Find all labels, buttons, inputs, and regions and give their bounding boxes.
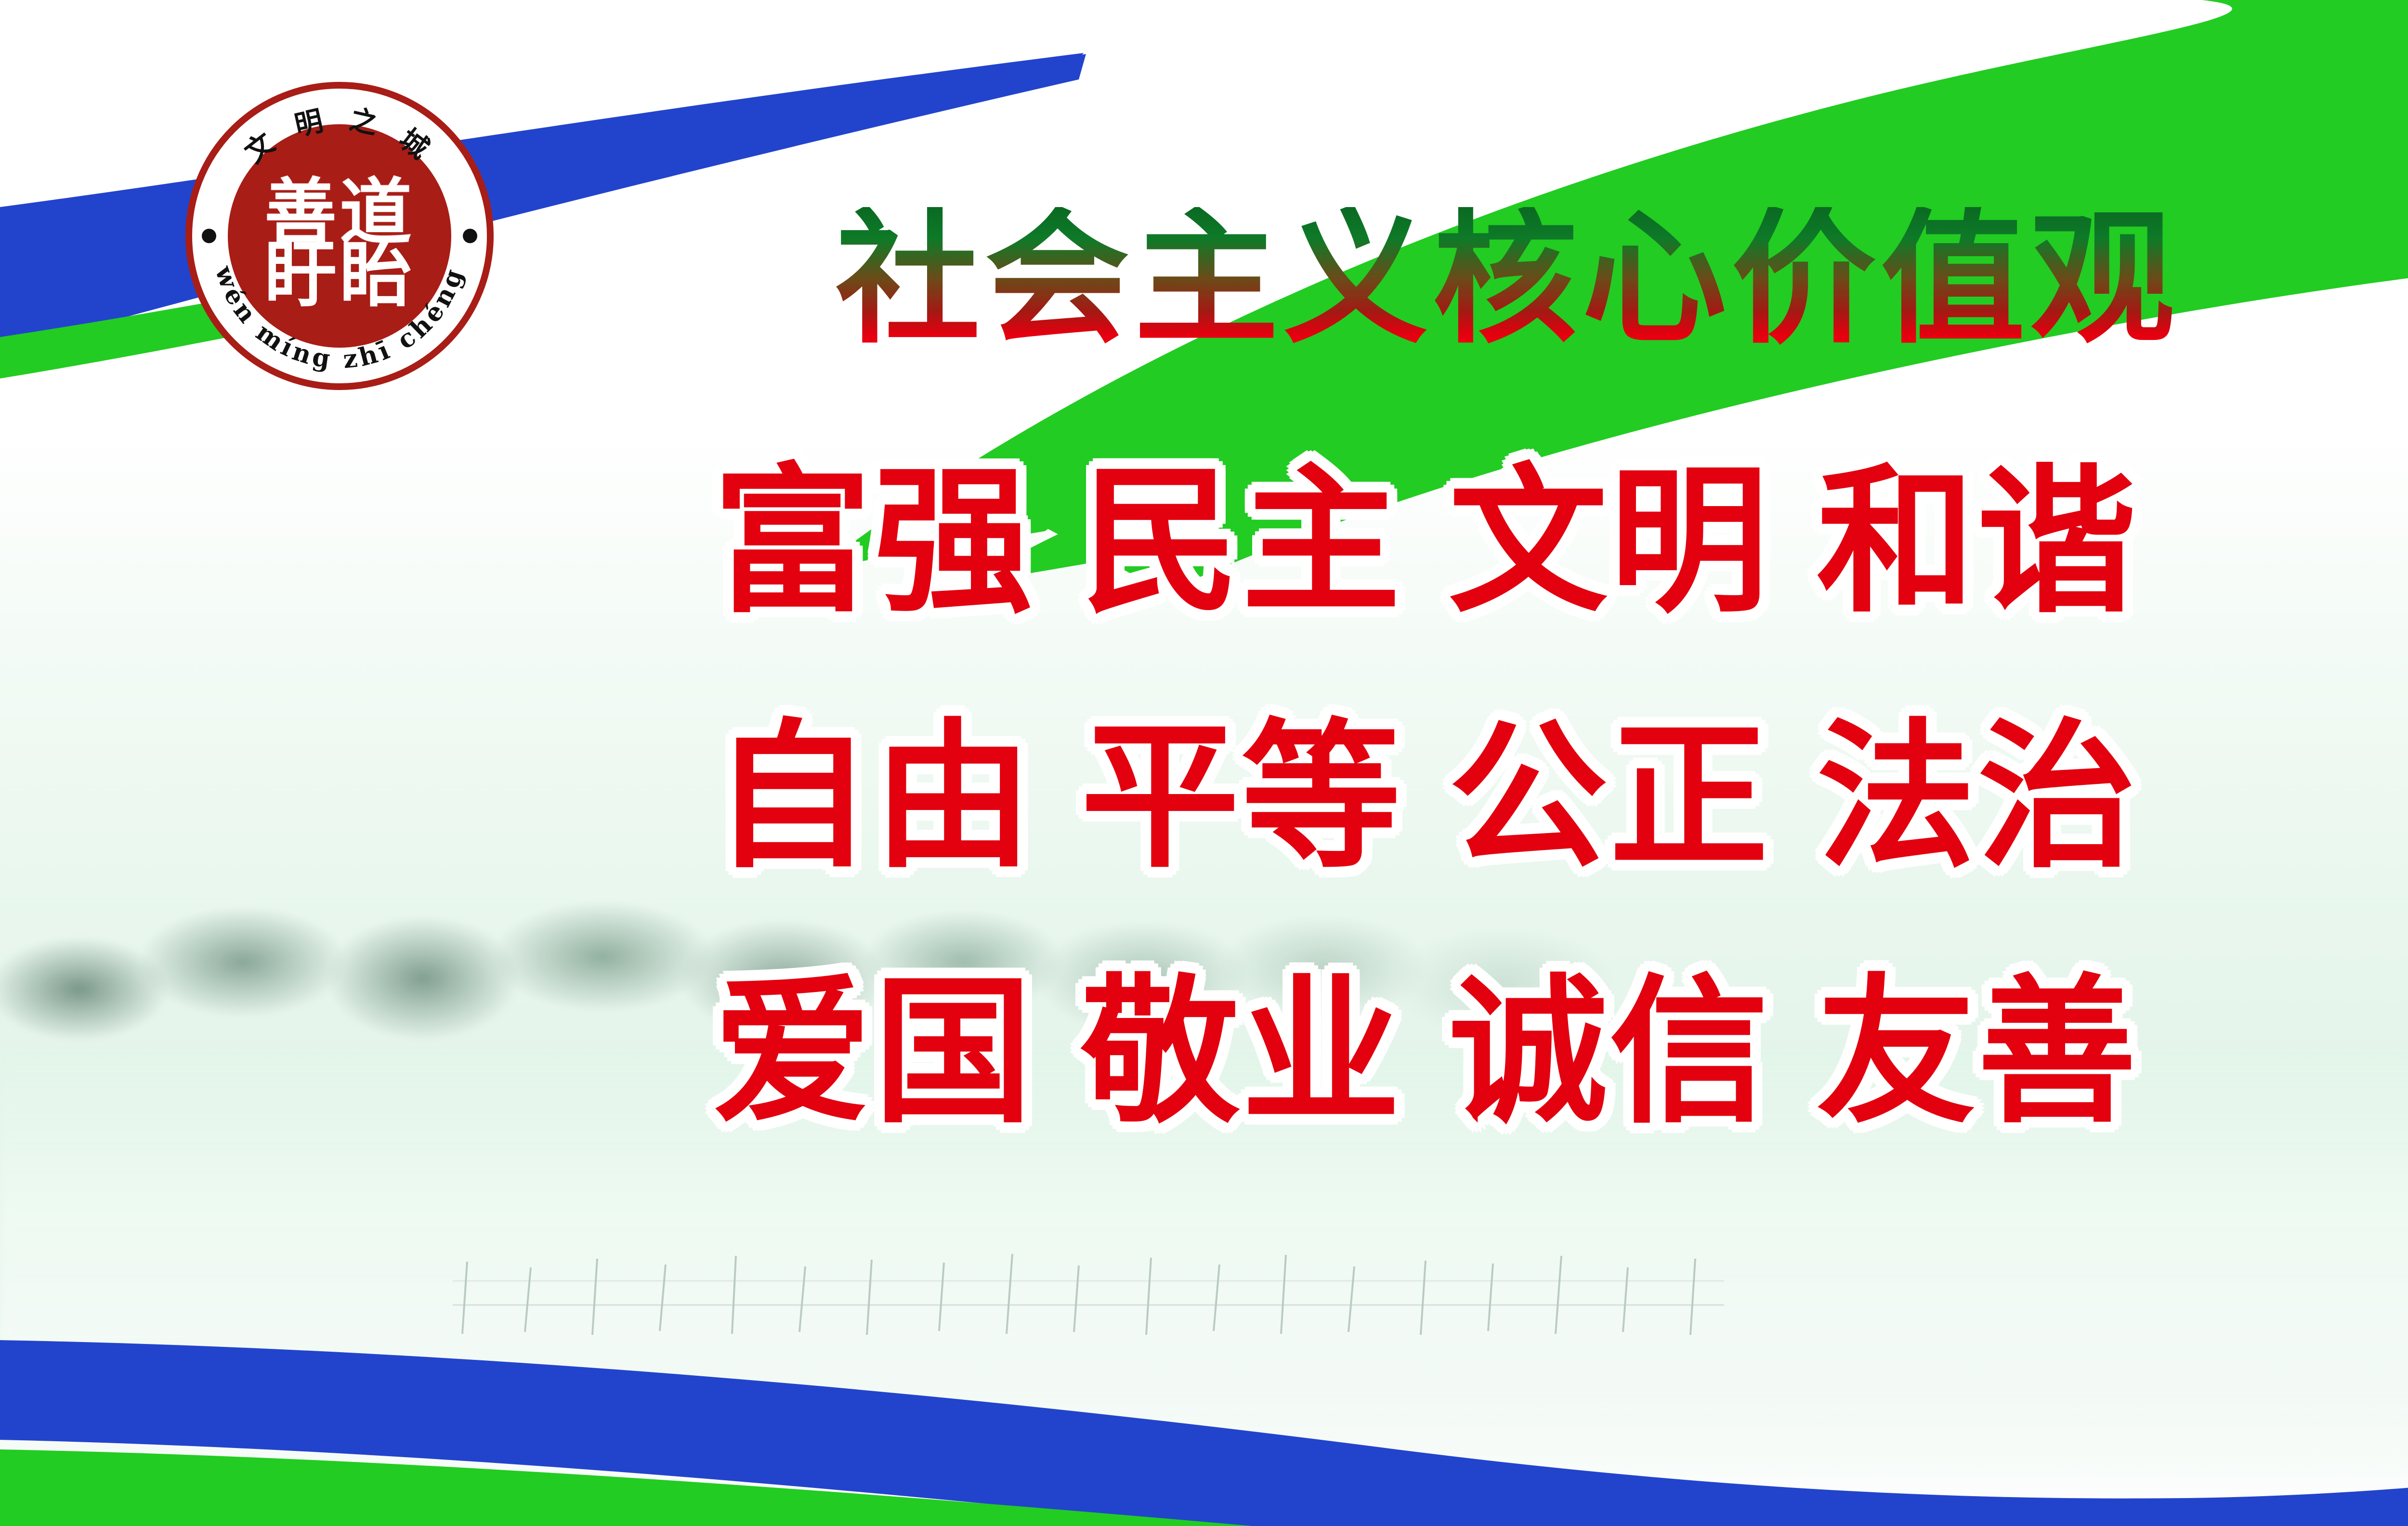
slogan-line-1: 富强民主文明和谐 [713, 462, 2408, 621]
slogan-word: 爱国 [713, 960, 1034, 1145]
slogan-word: 公正 [1449, 704, 1770, 889]
seal-arc-bottom-text: wén míng zhī chéng [209, 262, 470, 375]
slogan-word: 民主 [1081, 449, 1402, 634]
slogan-word: 友善 [1817, 960, 2138, 1145]
slogan-word: 诚信 [1449, 960, 1770, 1145]
page-title: 社会主义核心价值观 [836, 207, 2179, 352]
slogan-word: 文明 [1449, 449, 1770, 634]
slogan-word: 富强 [713, 449, 1034, 634]
slogan-word: 和谐 [1817, 449, 2138, 634]
slogan-word: 法治 [1817, 704, 2138, 889]
poster-board: 文 明 之 城 善道 盱眙 wén míng zhī chéng 社会主义核心价… [0, 0, 2408, 1526]
slogan-word: 平等 [1081, 704, 1402, 889]
slogan-word: 敬业 [1081, 960, 1402, 1145]
slogan-line-3: 爱国敬业诚信友善 [713, 973, 2408, 1132]
slogan-line-2: 自由平等公正法治 [713, 717, 2408, 876]
svg-text:wén míng zhī chéng: wén míng zhī chéng [209, 262, 470, 375]
seal-arc-bottom: wén míng zhī chéng [185, 82, 494, 390]
slogan-word: 自由 [713, 704, 1034, 889]
city-seal-logo: 文 明 之 城 善道 盱眙 wén míng zhī chéng [185, 82, 494, 390]
core-values-slogans: 富强民主文明和谐 自由平等公正法治 爱国敬业诚信友善 [713, 462, 2408, 1132]
